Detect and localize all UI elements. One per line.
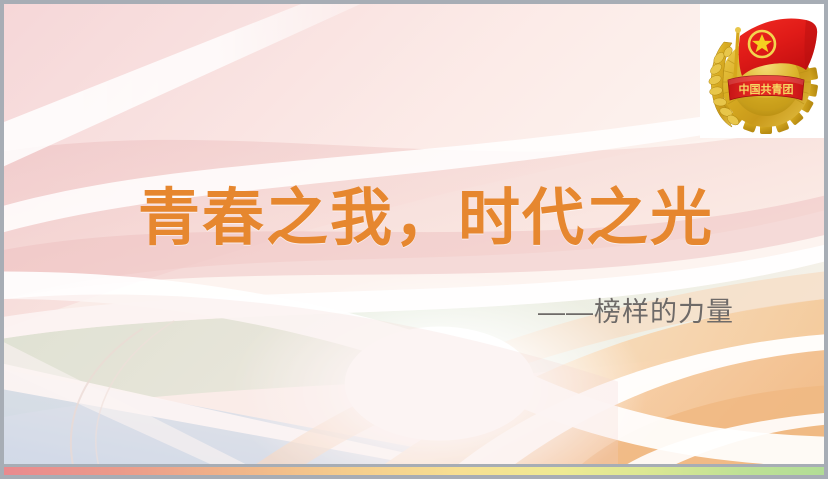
presentation-slide: 青春之我，时代之光 ——榜样的力量	[0, 0, 828, 479]
emblem-container: 中国共青团	[700, 4, 828, 138]
slide-title: 青春之我，时代之光	[138, 186, 714, 251]
emblem-banner-text: 中国共青团	[739, 82, 794, 96]
slide-subtitle: ——榜样的力量	[538, 290, 734, 329]
communist-youth-league-emblem: 中国共青团	[702, 6, 828, 136]
bottom-rainbow-strip	[4, 467, 824, 475]
